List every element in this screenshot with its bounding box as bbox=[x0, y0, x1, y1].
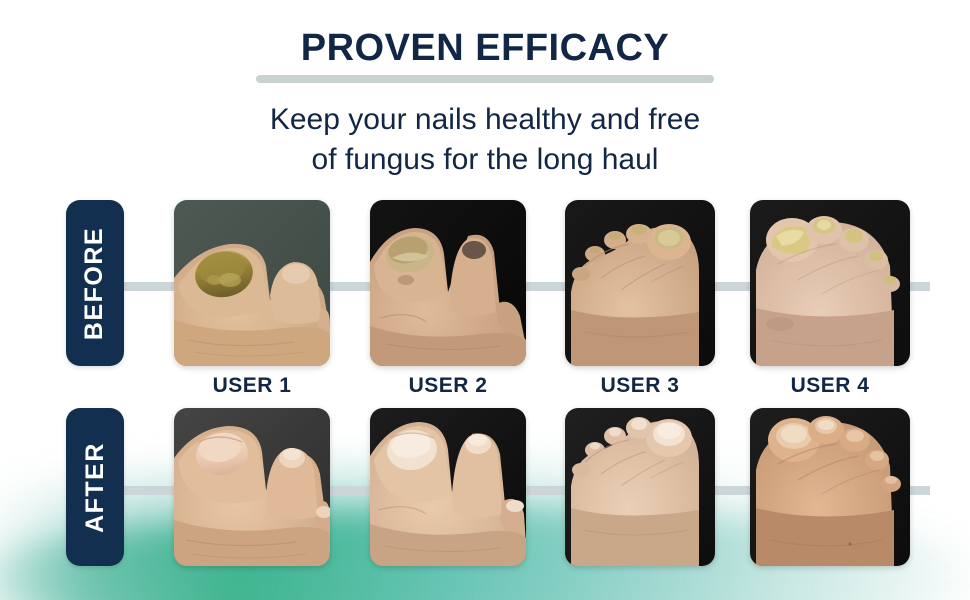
caption-user-3: USER 3 bbox=[565, 374, 715, 398]
photo-user-1-after bbox=[174, 408, 330, 566]
row-label-after-text: AFTER bbox=[81, 442, 110, 533]
row-label-after: AFTER bbox=[66, 408, 124, 566]
title-divider bbox=[256, 75, 714, 83]
caption-user-1: USER 1 bbox=[174, 374, 330, 398]
row-label-before: BEFORE bbox=[66, 200, 124, 366]
photo-user-2-after bbox=[370, 408, 526, 566]
photo-user-4-after bbox=[750, 408, 910, 566]
page-subtitle: Keep your nails healthy and free of fung… bbox=[0, 100, 970, 180]
row-label-before-text: BEFORE bbox=[81, 226, 110, 339]
page-title: PROVEN EFFICACY bbox=[0, 27, 970, 70]
caption-user-2: USER 2 bbox=[370, 374, 526, 398]
subtitle-line-1: Keep your nails healthy and free bbox=[0, 100, 970, 140]
subtitle-line-2: of fungus for the long haul bbox=[0, 140, 970, 180]
photo-user-4-before bbox=[750, 200, 910, 366]
photo-user-2-before bbox=[370, 200, 526, 366]
caption-user-4: USER 4 bbox=[750, 374, 910, 398]
photo-user-3-after bbox=[565, 408, 715, 566]
photo-user-3-before bbox=[565, 200, 715, 366]
photo-user-1-before bbox=[174, 200, 330, 366]
promo-banner: PROVEN EFFICACY Keep your nails healthy … bbox=[0, 0, 970, 600]
